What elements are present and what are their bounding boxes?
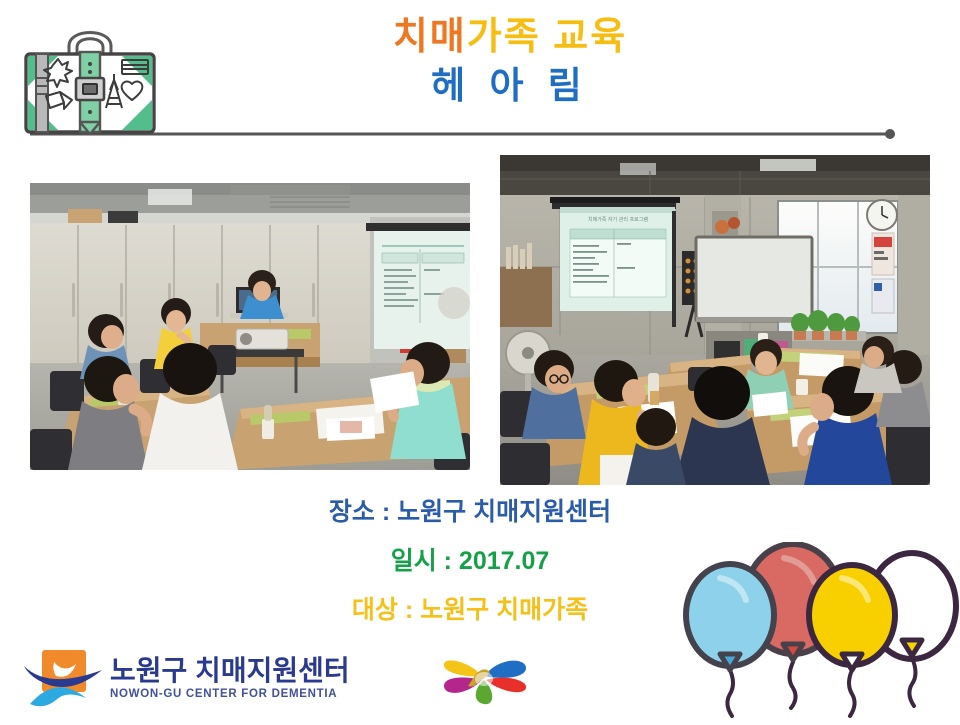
center-logo-name-ko: 노원구 치매지원센터 bbox=[110, 656, 350, 685]
center-logo: 노원구 치매지원센터 NOWON-GU CENTER FOR DEMENTIA bbox=[24, 646, 350, 712]
page-title: 치매가족 교육 bbox=[200, 14, 820, 62]
page-subtitle: 헤 아 림 bbox=[200, 64, 820, 108]
svg-text:치매가족 자기 관리 프로그램: 치매가족 자기 관리 프로그램 bbox=[588, 216, 648, 223]
info-target: 대상 : 노원구 치매가족 bbox=[120, 598, 820, 623]
title-block: 치매가족 교육 헤 아 림 bbox=[200, 14, 820, 108]
nowon-gu-emblem-icon bbox=[438, 650, 530, 708]
header-band: 치매가족 교육 헤 아 림 bbox=[0, 0, 960, 150]
page-title-part-orange: 치매 bbox=[393, 16, 467, 58]
info-date: 일시 : 2017.07 bbox=[120, 549, 820, 574]
page-title-part-yellow: 가족 교육 bbox=[467, 16, 627, 58]
photo-classroom-right: 치매가족 자기 관리 프로그램 bbox=[500, 155, 930, 485]
info-place: 장소 : 노원구 치매지원센터 bbox=[120, 500, 820, 525]
photo-classroom-left bbox=[30, 183, 470, 470]
nowon-dementia-center-logo-icon bbox=[24, 648, 102, 710]
suitcase-icon bbox=[14, 12, 166, 136]
info-block: 장소 : 노원구 치매지원센터 일시 : 2017.07 대상 : 노원구 치매… bbox=[120, 500, 820, 647]
center-logo-name-en: NOWON-GU CENTER FOR DEMENTIA bbox=[110, 688, 350, 702]
center-logo-wordmark: 노원구 치매지원센터 NOWON-GU CENTER FOR DEMENTIA bbox=[110, 656, 350, 701]
